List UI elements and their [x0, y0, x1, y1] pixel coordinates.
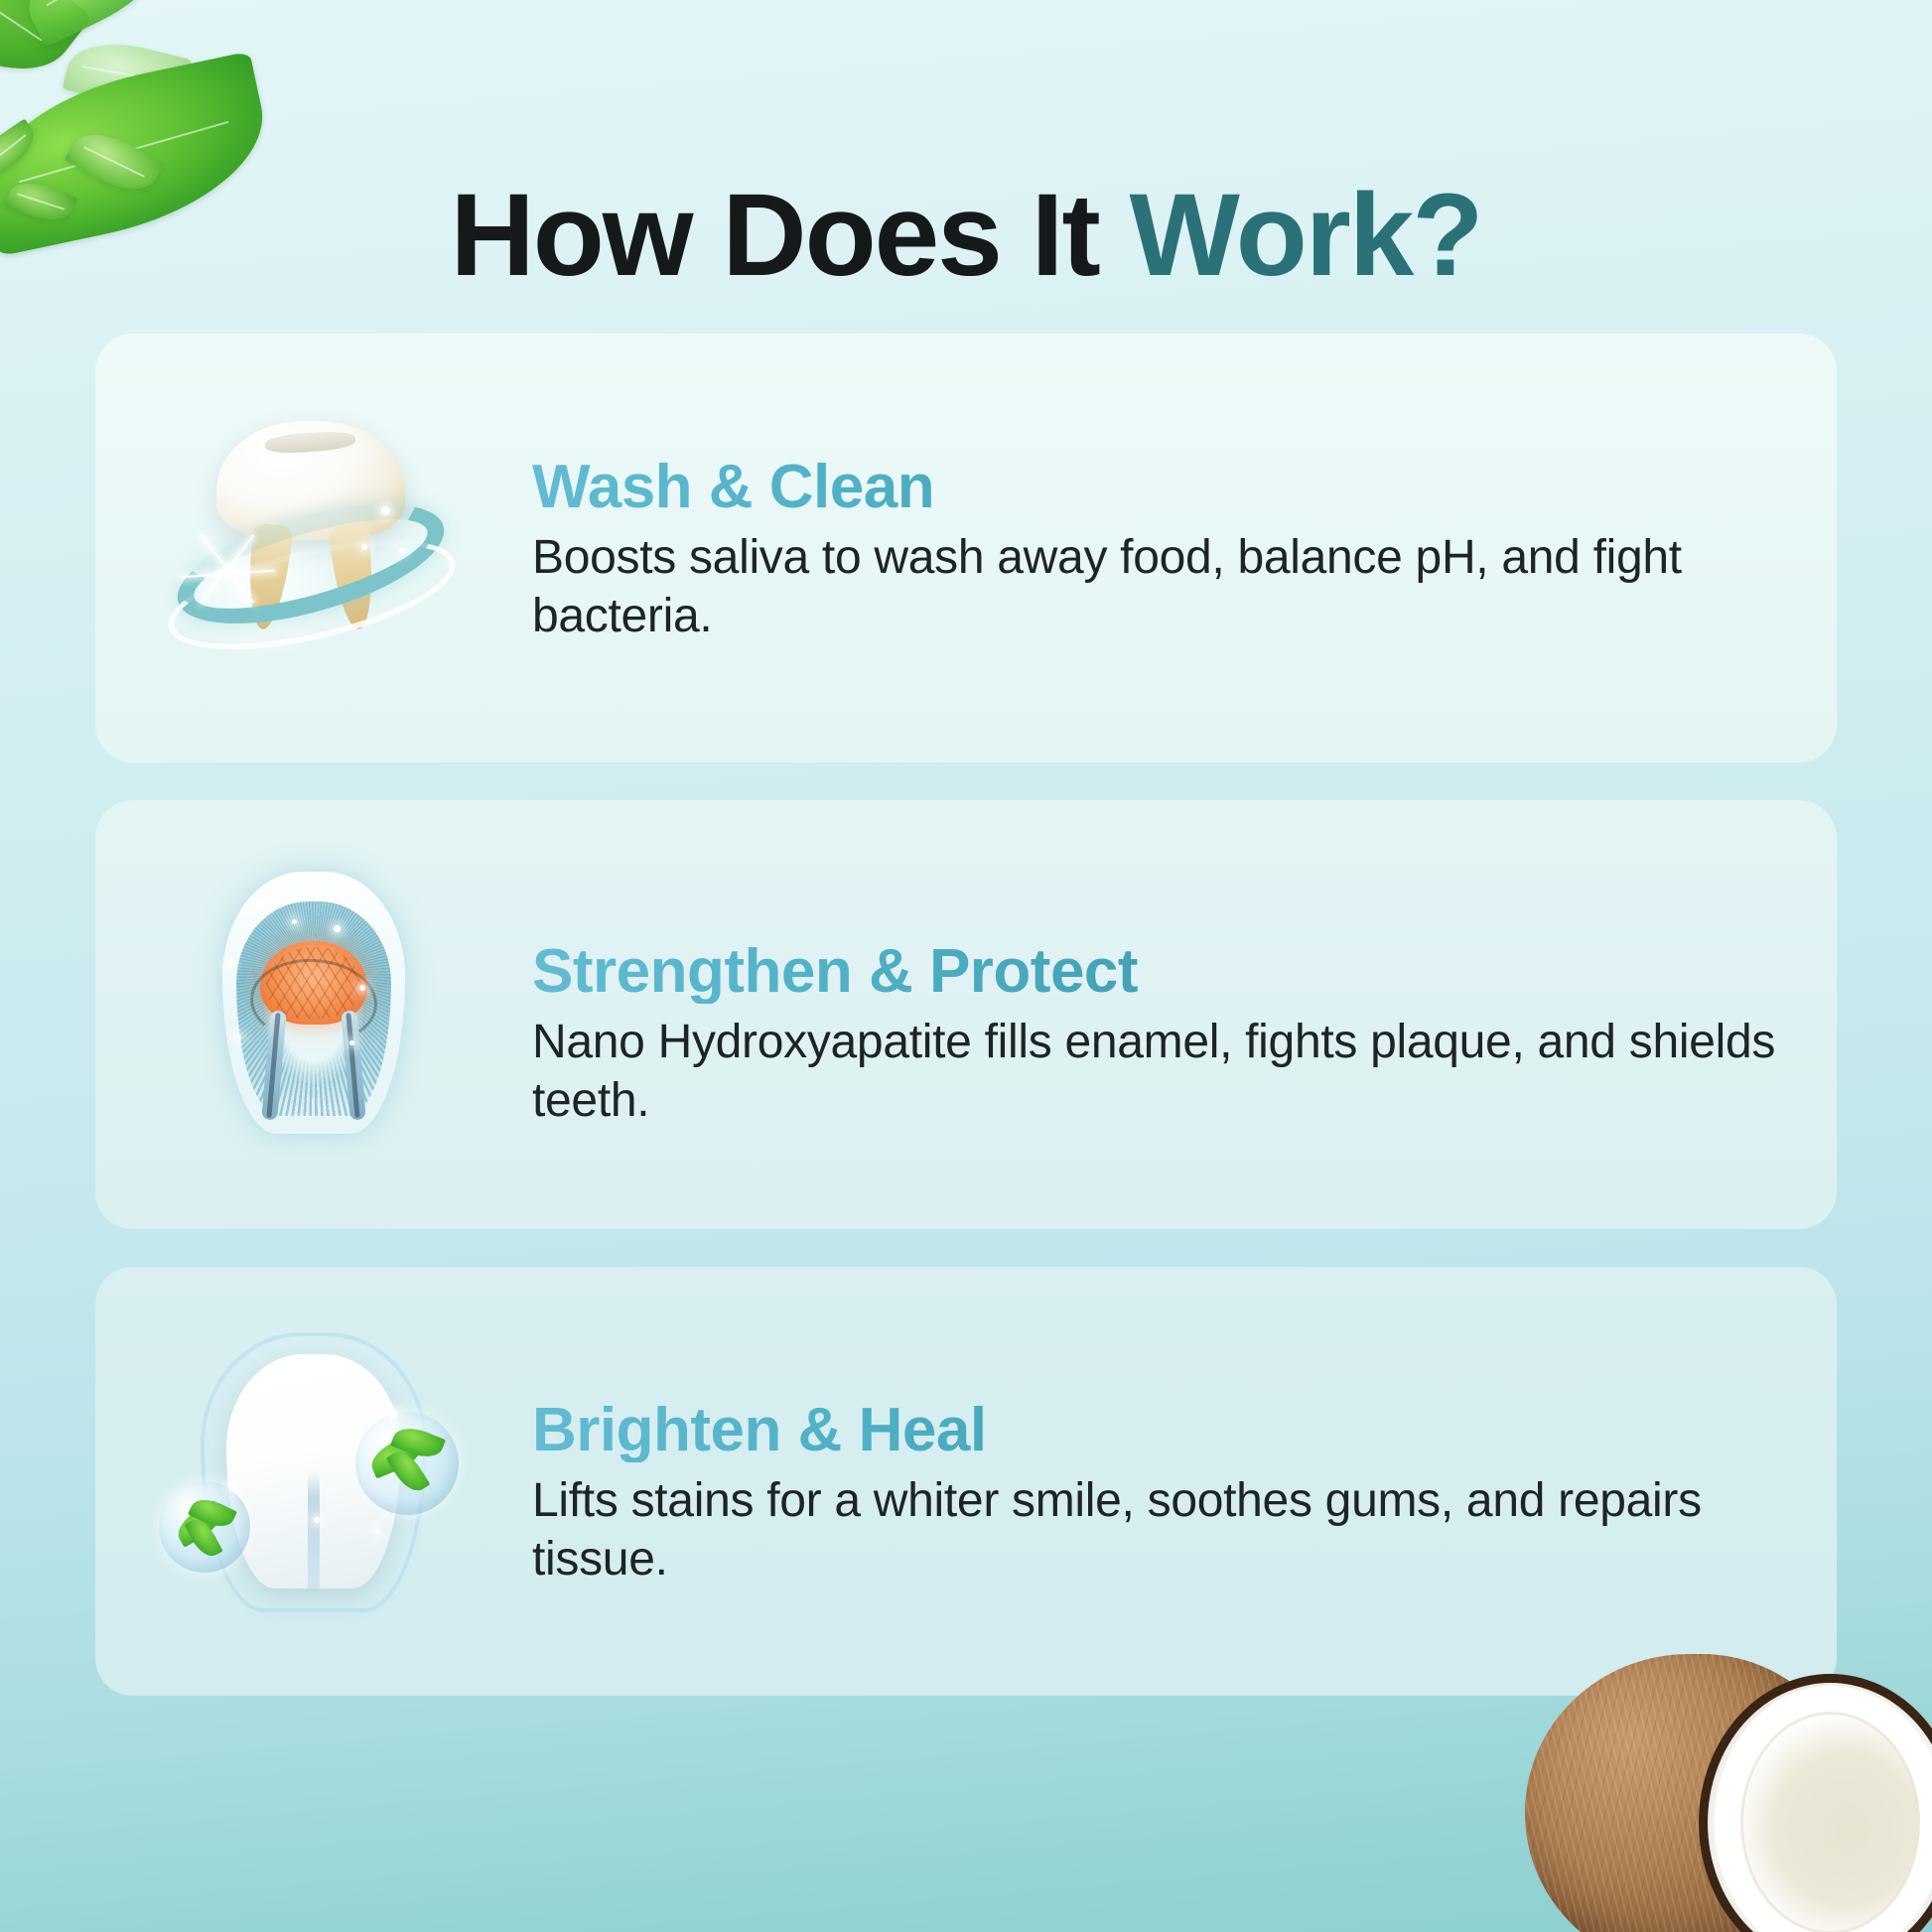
step-icon-slot — [95, 800, 532, 1229]
sparkle-icon — [314, 1517, 320, 1523]
mint-bubble-icon — [355, 1412, 459, 1515]
white-tooth-icon — [226, 1354, 401, 1588]
page-title: How Does It Work? — [0, 177, 1932, 294]
white-tooth-with-mint-bubbles-icon — [165, 1332, 463, 1630]
step-text-slot: Brighten & Heal Lifts stains for a white… — [532, 1374, 1837, 1589]
step-description: Boosts saliva to wash away food, balance… — [532, 529, 1777, 645]
step-card-strengthen-protect[interactable]: Strengthen & Protect Nano Hydroxyapatite… — [95, 800, 1837, 1229]
step-text-slot: Wash & Clean Boosts saliva to wash away … — [532, 451, 1837, 646]
mint-leaf-icon — [63, 31, 193, 117]
mint-leaf-icon — [0, 118, 43, 179]
step-title: Strengthen & Protect — [532, 939, 1777, 1005]
step-description: Nano Hydroxyapatite fills enamel, fights… — [532, 1014, 1777, 1130]
sparkle-icon — [349, 1040, 354, 1045]
sparkle-icon — [226, 961, 232, 967]
sparkle-icon — [334, 925, 341, 932]
sparkle-icon — [260, 1404, 265, 1409]
step-title: Wash & Clean — [532, 455, 1777, 520]
infographic-page: How Does It Work? — [0, 0, 1932, 1932]
steps-list: Wash & Clean Boosts saliva to wash away … — [95, 334, 1837, 1696]
sparkle-icon — [389, 1410, 397, 1418]
sparkle-icon — [256, 901, 264, 909]
step-card-brighten-heal[interactable]: Brighten & Heal Lifts stains for a white… — [95, 1267, 1837, 1696]
tooth-root-gap — [308, 1471, 320, 1588]
sparkle-icon — [236, 1035, 241, 1039]
mint-leaf-icon — [10, 0, 189, 48]
coconut-shell — [1525, 1654, 1853, 1932]
sparkling-molar-with-orbit-icon — [165, 399, 463, 697]
sparkle-icon — [375, 1529, 380, 1534]
step-card-wash-clean[interactable]: Wash & Clean Boosts saliva to wash away … — [95, 334, 1837, 762]
sparkle-icon — [292, 919, 297, 924]
step-description: Lifts stains for a whiter smile, soothes… — [532, 1472, 1777, 1588]
sparkle-icon — [399, 548, 404, 553]
sparkle-icon — [381, 506, 390, 515]
step-title: Brighten & Heal — [532, 1398, 1777, 1463]
tooth-cross-section-icon — [165, 866, 463, 1164]
sparkle-icon — [361, 544, 367, 550]
coconut-flesh — [1699, 1674, 1932, 1932]
sparkle-icon — [359, 985, 365, 991]
page-title-accent: Work? — [1130, 170, 1482, 301]
step-icon-slot — [95, 1267, 532, 1696]
coconut-rim — [1699, 1674, 1932, 1932]
sparkle-icon — [228, 1483, 236, 1491]
page-title-primary: How Does It — [450, 170, 1129, 301]
mint-leaf-icon — [0, 0, 92, 106]
mint-bubble-icon — [159, 1481, 250, 1573]
step-text-slot: Strengthen & Protect Nano Hydroxyapatite… — [532, 899, 1837, 1131]
step-icon-slot — [95, 334, 532, 762]
tooth-anatomy-diagram — [222, 872, 405, 1134]
